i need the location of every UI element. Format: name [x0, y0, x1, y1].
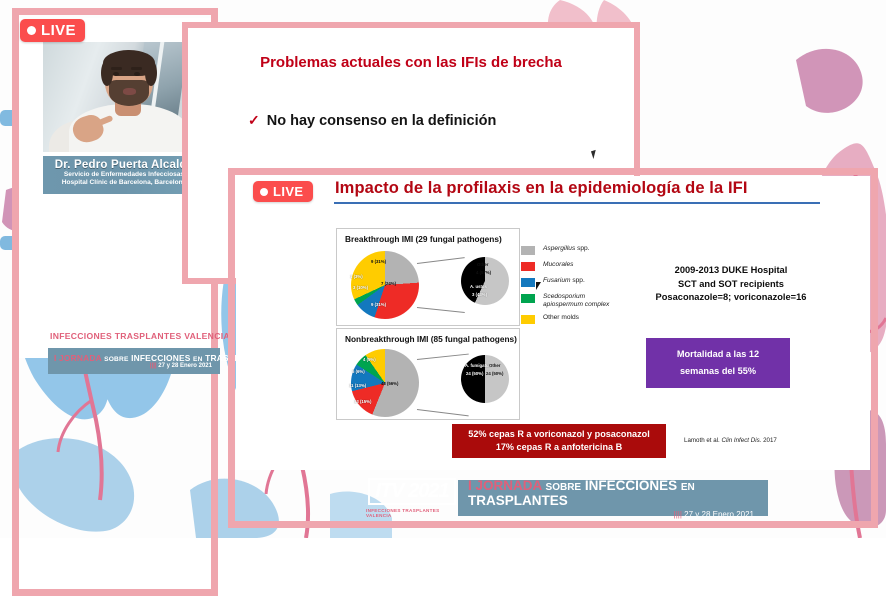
study-note: 2009-2013 DUKE Hospital SCT and SOT reci…: [626, 264, 836, 305]
pie-label-bt-fusarium: 3 (10%): [353, 285, 368, 290]
speaker-affiliation-line1: Servicio de Enfermedades Infecciosas: [43, 171, 205, 179]
itv-banner-bottom-en: EN: [681, 482, 695, 493]
citation-year: 2017: [761, 437, 776, 444]
pie-label-bt-detail-other: Other: [477, 262, 488, 267]
itv-banner-en: EN: [193, 356, 203, 363]
pie-label-bt-other: 9 (31%): [371, 259, 386, 264]
citation: Lamoth et al. Clin Infect Dis. 2017: [684, 437, 777, 444]
mortality-line1: Mortalidad a las 12: [677, 346, 759, 363]
citation-journal: Clin Infect Dis.: [722, 437, 762, 444]
study-note-line2: SCT and SOT recipients: [626, 278, 836, 292]
itv-banner-bottom-dates: 27 y 28 Enero 2021: [684, 510, 754, 519]
itv-logo-bottom-subtitle: INFECCIONES TRASPLANTES VALENCIA: [366, 508, 458, 518]
pie-label-nbt-detail-fumigatus-value: 24 (50%): [466, 371, 483, 376]
explode-connector-top-nbt: [417, 354, 469, 360]
speaker-brow-right: [131, 67, 142, 70]
itv-banner: I JORNADA SOBRE INFECCIONES EN TRASPLANT…: [48, 348, 220, 374]
itv-banner-dates: 27 y 28 Enero 2021: [158, 363, 212, 369]
chart-title-breakthrough: Breakthrough IMI (29 fungal pathogens): [345, 234, 502, 244]
record-dot-icon: [260, 188, 268, 196]
check-mark-icon: ✓: [248, 112, 260, 128]
pie-label-nbt-other: 4 (5%): [363, 357, 376, 362]
chart-panel-breakthrough: Breakthrough IMI (29 fungal pathogens) 7…: [336, 228, 520, 326]
itv-logo: ITV 2021: [48, 280, 194, 325]
pie-label-bt-aspergillus: 7 (24%): [381, 281, 396, 286]
itv-banner-bottom-main: INFECCIONES: [585, 478, 677, 493]
live-label: LIVE: [41, 22, 76, 39]
resistance-line1: 52% cepas R a voriconazol y posaconazol: [468, 428, 649, 441]
itv-logo-bottom: ITV 2021 INFECCIONES TRASPLANTES VALENCI…: [366, 480, 458, 516]
speaker-nameplate: Dr. Pedro Puerta Alcalde Servicio de Enf…: [43, 156, 205, 194]
slide1-bullet-1: ✓No hay consenso en la definición: [248, 112, 496, 129]
legend-item-other-molds: Other molds: [521, 314, 641, 324]
itv-logo-bottom-text: ITV 2021: [375, 480, 448, 502]
chart-title-nonbreakthrough: Nonbreakthrough IMI (85 fungal pathogens…: [345, 334, 517, 344]
legend-swatch-aspergillus: [521, 246, 535, 255]
chart-panel-nonbreakthrough: Nonbreakthrough IMI (85 fungal pathogens…: [336, 328, 520, 420]
pie-label-bt-scedosporium: 1 (3%): [350, 274, 363, 279]
itv-logo-subtitle: INFECCIONES TRASPLANTES VALENCIA: [50, 331, 230, 341]
study-note-line1: 2009-2013 DUKE Hospital: [626, 264, 836, 278]
resistance-callout: 52% cepas R a voriconazol y posaconazol …: [452, 424, 666, 458]
explode-connector-bottom-nbt: [417, 409, 469, 416]
legend-label-scedosporium: Scedosporium apiospermum complex: [543, 293, 621, 308]
legend-swatch-scedosporium: [521, 294, 535, 303]
citation-author: Lamoth et al.: [684, 437, 722, 444]
itv-logo-text: ITV 2021: [58, 283, 184, 320]
event-poster: ITV 2021 INFECCIONES TRASPLANTES VALENCI…: [38, 280, 230, 376]
legend-swatch-other-molds: [521, 315, 535, 324]
legend-label-other-molds: Other molds: [543, 314, 579, 322]
speaker-video[interactable]: [43, 42, 205, 152]
speaker-hair-right: [145, 60, 157, 86]
live-label: LIVE: [273, 184, 304, 199]
pie-label-nbt-detail-other-value: 24 (50%): [486, 371, 503, 376]
slide2-title: Impacto de la profilaxis en la epidemiol…: [335, 179, 825, 198]
event-banner-bottom: ITV 2021 INFECCIONES TRASPLANTES VALENCI…: [366, 480, 768, 516]
itv-banner-bottom: I JORNADA SOBRE INFECCIONES EN TRASPLANT…: [458, 480, 768, 516]
itv-banner-mid: SOBRE: [104, 356, 128, 363]
mouse-cursor-legend: [536, 282, 544, 290]
speaker-hair-left: [101, 60, 113, 86]
mortality-callout: Mortalidad a las 12 semanas del 55%: [646, 338, 790, 388]
itv-logo-bottom-box: ITV 2021: [368, 478, 455, 505]
itv-banner-bottom-tail: TRASPLANTES: [468, 493, 568, 508]
pie-label-nbt-fusarium: 11 (13%): [349, 383, 366, 388]
legend-swatch-fusarium: [521, 278, 535, 287]
speaker-mouth: [123, 88, 136, 95]
explode-connector-top-bt: [417, 257, 465, 264]
study-note-line3: Posaconazole=8; voriconazole=16: [626, 291, 836, 305]
slide1-title: Problemas actuales con las IFIs de brech…: [188, 54, 634, 71]
speaker-eye-left: [113, 72, 119, 76]
legend-item-mucorales: Mucorales: [521, 261, 641, 271]
pie-label-bt-detail-ustus: A. ustus: [470, 284, 487, 289]
slide2-title-underline: [334, 202, 820, 204]
pie-label-bt-detail-other-value: 4 (57%): [476, 270, 491, 275]
itv-banner-pre: I JORNADA: [54, 353, 102, 363]
itv-banner-bottom-mid: SOBRE: [546, 482, 582, 493]
live-badge-webcam: LIVE: [20, 19, 85, 42]
pie-label-bt-detail-ustus-value: 3 (43%): [472, 292, 487, 297]
resistance-line2: 17% cepas R a anfotericina B: [496, 441, 622, 454]
speaker-name: Dr. Pedro Puerta Alcalde: [43, 159, 205, 171]
legend-swatch-mucorales: [521, 262, 535, 271]
pie-label-nbt-scedosporium: 5 (6%): [352, 369, 365, 374]
explode-connector-bottom-bt: [417, 307, 465, 313]
legend-label-mucorales: Mucorales: [543, 261, 573, 269]
pie-label-nbt-detail-other: Other: [489, 363, 500, 368]
speaker-brow-left: [111, 67, 122, 70]
itv-banner-main: INFECCIONES: [131, 353, 190, 363]
itv-banner-bottom-pre: I JORNADA: [468, 478, 542, 493]
legend-item-aspergillus: Aspergillus spp.: [521, 245, 641, 255]
pie-label-bt-mucorales: 9 (31%): [371, 302, 386, 307]
legend-label-aspergillus: Aspergillus spp.: [543, 245, 590, 253]
record-dot-icon: [27, 26, 36, 35]
mortality-line2: semanas del 55%: [680, 363, 756, 380]
slide1-bullet-1-text: No hay consenso en la definición: [267, 113, 497, 129]
pie-label-nbt-mucorales: 13 (15%): [354, 399, 371, 404]
legend-item-scedosporium: Scedosporium apiospermum complex: [521, 293, 641, 308]
pie-label-nbt-detail-fumigatus: A. fumigatus: [465, 363, 491, 368]
speaker-eye-right: [134, 72, 140, 76]
pie-label-nbt-aspergillus: 48 (56%): [381, 381, 398, 386]
legend-label-fusarium: Fusarium spp.: [543, 277, 585, 285]
speaker-affiliation-line2: Hospital Clínic de Barcelona, Barcelona: [43, 179, 205, 187]
live-badge-slide: LIVE: [253, 181, 313, 202]
